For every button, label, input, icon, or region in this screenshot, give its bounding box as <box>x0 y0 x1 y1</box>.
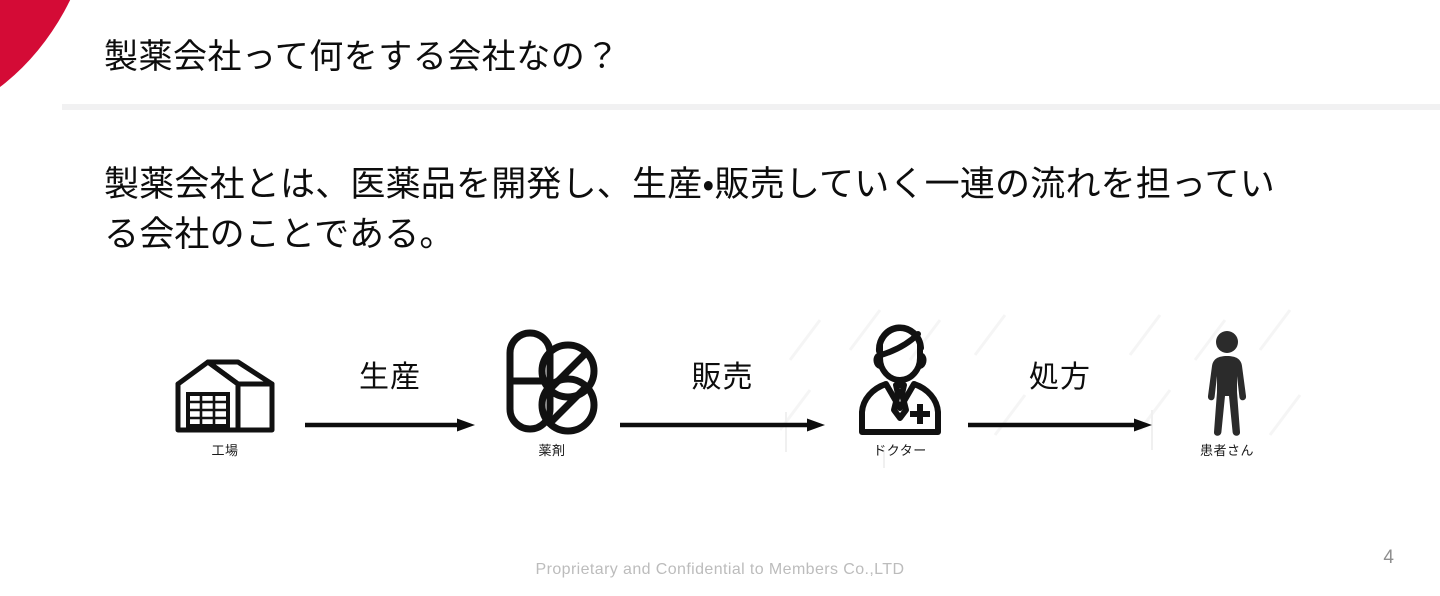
page-number: 4 <box>1383 547 1394 569</box>
flow-node-drug: 薬剤 <box>477 318 627 473</box>
flow-node-doctor-caption: ドクター <box>825 440 975 459</box>
flow-node-drug-caption: 薬剤 <box>477 440 627 459</box>
doctor-icon <box>825 318 975 436</box>
flow-arrow-production: 生産 <box>305 360 475 440</box>
arrow-right-icon <box>305 418 475 432</box>
flow-arrow-production-label: 生産 <box>305 352 475 396</box>
process-flow-diagram: 工場 生産 <box>150 300 1320 475</box>
flow-arrow-sales-label: 販売 <box>620 352 825 396</box>
flow-node-patient-caption: 患者さん <box>1152 440 1302 459</box>
arrow-right-icon <box>968 418 1152 432</box>
body-paragraph: 製薬会社とは、医薬品を開発し、生産・販売していく一連の流れを担っている会社のこと… <box>104 160 1304 260</box>
flow-node-factory: 工場 <box>150 318 300 473</box>
flow-arrow-sales: 販売 <box>620 360 825 440</box>
pills-icon <box>477 318 627 436</box>
flow-arrow-prescription: 処方 <box>968 360 1152 440</box>
flow-node-patient: 患者さん <box>1152 318 1302 473</box>
flow-node-doctor: ドクター <box>825 318 975 473</box>
page-title: 製薬会社って何をする会社なの？ <box>104 34 1304 80</box>
header-divider <box>62 104 1440 110</box>
factory-icon <box>150 318 300 436</box>
footer-confidentiality-note: Proprietary and Confidential to Members … <box>0 561 1440 579</box>
slide-canvas: 製薬会社って何をする会社なの？ 製薬会社とは、医薬品を開発し、生産・販売していく… <box>0 0 1440 596</box>
flow-arrow-prescription-label: 処方 <box>968 352 1152 396</box>
arrow-right-icon <box>620 418 825 432</box>
flow-node-factory-caption: 工場 <box>150 440 300 459</box>
person-icon <box>1152 318 1302 436</box>
